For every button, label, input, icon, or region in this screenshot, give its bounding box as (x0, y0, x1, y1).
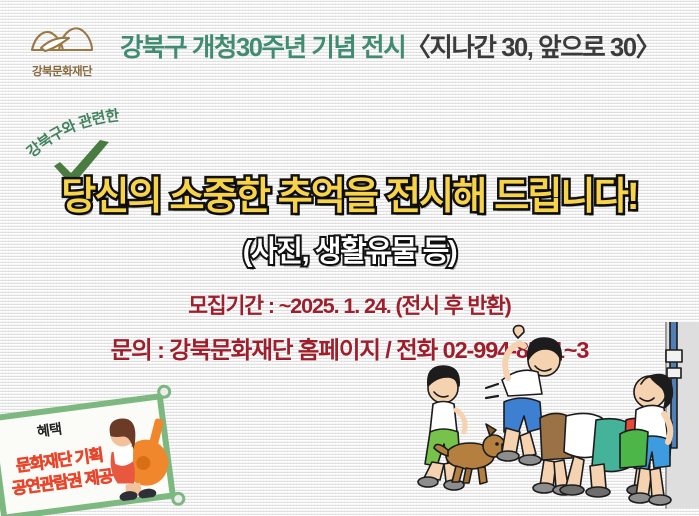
title-bracket-part: 〈지나간 30, 앞으로 30〉 (405, 34, 659, 62)
recruitment-period-text: 모집기간 : ~2025. 1. 24. (전시 후 반환) (0, 289, 699, 320)
gangbuk-foundation-mountain-logo (16, 18, 108, 61)
foundation-logo-text: 강북문화재단 (16, 63, 108, 79)
foundation-logo: 강북문화재단 (16, 18, 108, 79)
headline-text: 당신의 소중한 추억을 전시해 드립니다! (0, 178, 699, 216)
drainpipe-on-wall (666, 322, 699, 508)
guitar-player-illustration (93, 404, 182, 503)
boy-standing-by-wall (620, 375, 672, 506)
children-leapfrog-game-illustration (398, 322, 699, 516)
benefit-ticket: 혜택 문화재단 기획 공연관람권 제공 (0, 393, 176, 516)
title-green-part: 강북구 개청30주년 기념 전시 (120, 34, 405, 62)
page-title: 강북구 개청30주년 기념 전시〈지나간 30, 앞으로 30〉 (120, 36, 692, 62)
exhibition-poster: 강북문화재단 강북구 개청30주년 기념 전시〈지나간 30, 앞으로 30〉 … (0, 0, 699, 516)
subheadline-text: (사진, 생활유물 등) (0, 238, 699, 267)
